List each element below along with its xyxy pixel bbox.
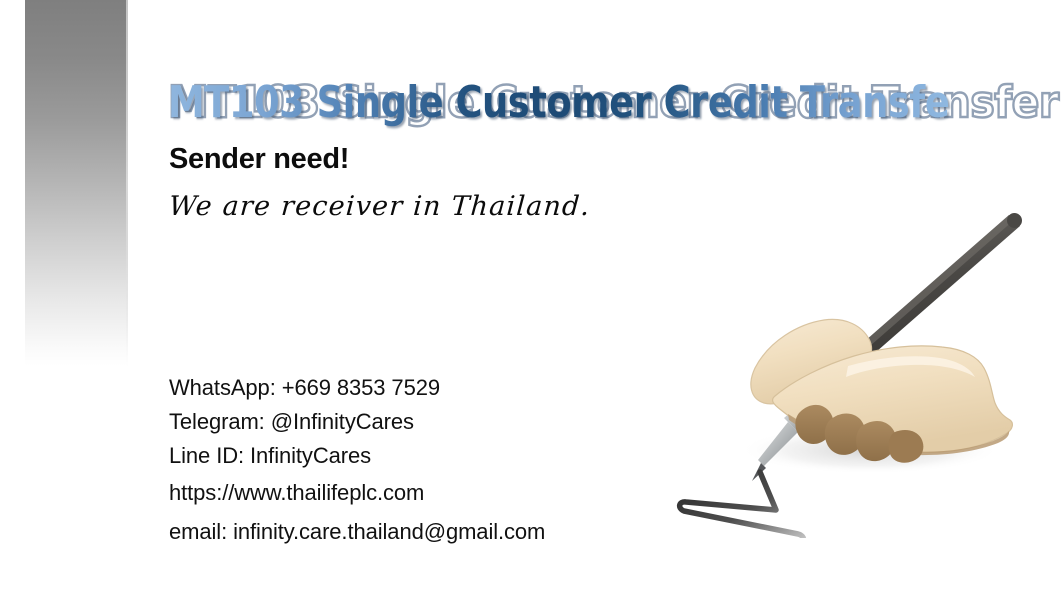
contact-line-website[interactable]: https://www.thailifeplc.com <box>169 473 689 512</box>
slide-canvas: MT103 Single Customer Credit Transfer MT… <box>0 0 1063 600</box>
left-gradient-bar-edge <box>126 0 128 366</box>
left-gradient-bar <box>25 0 128 366</box>
hand-writing-pen-illustration <box>648 198 1048 538</box>
contact-line-line-id: Line ID: InfinityCares <box>169 439 689 473</box>
contact-block: WhatsApp: +669 8353 7529 Telegram: @Infi… <box>169 371 689 551</box>
sender-heading: Sender need! <box>169 143 349 176</box>
contact-line-whatsapp: WhatsApp: +669 8353 7529 <box>169 371 689 405</box>
contact-line-email[interactable]: email: infinity.care.thailand@gmail.com <box>169 512 689 551</box>
ink-signature-stroke <box>680 472 804 538</box>
receiver-script-text: We are receiver in Thailand. <box>168 191 592 222</box>
contact-line-telegram: Telegram: @InfinityCares <box>169 405 689 439</box>
page-title: MT103 Single Customer Credit Transfer <box>168 78 949 128</box>
